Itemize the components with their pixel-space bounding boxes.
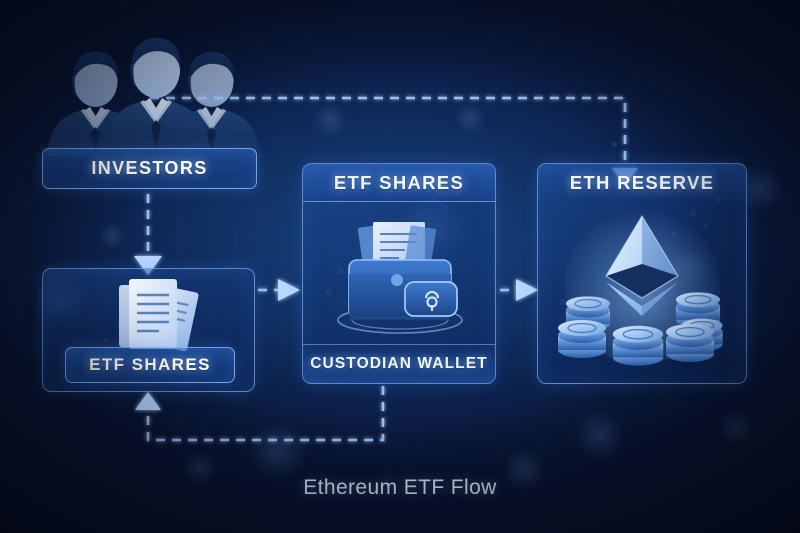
etf-shares-card[interactable]: ETF SHARES xyxy=(42,268,255,392)
arrowhead-right-custodian xyxy=(278,279,300,301)
wallet-lock-icon xyxy=(327,216,473,338)
eth-reserve-panel-header: ETH RESERVE xyxy=(538,164,746,201)
arrowhead-right-eth-reserve xyxy=(516,279,538,301)
diagram-canvas: INVESTORS xyxy=(0,0,800,533)
arrowhead-up-etf-shares xyxy=(135,392,161,410)
custodian-wallet-panel[interactable]: ETF SHARES xyxy=(302,163,496,384)
diagram-caption: Ethereum ETF Flow xyxy=(0,476,800,500)
eth-reserve-header-label: ETH RESERVE xyxy=(570,172,715,194)
custodian-footer-label: CUSTODIAN WALLET xyxy=(310,355,487,373)
investors-label: INVESTORS xyxy=(91,158,207,179)
ethereum-coins-icon xyxy=(552,204,732,374)
etf-shares-label-box: ETF SHARES xyxy=(65,347,235,383)
custodian-header-label: ETF SHARES xyxy=(334,172,464,194)
documents-icon xyxy=(105,275,215,357)
custodian-panel-header: ETF SHARES xyxy=(303,164,495,202)
investors-label-box[interactable]: INVESTORS xyxy=(42,148,257,189)
connector-return-loop xyxy=(148,386,383,440)
eth-reserve-panel[interactable]: ETH RESERVE xyxy=(537,163,747,384)
custodian-panel-footer: CUSTODIAN WALLET xyxy=(303,344,495,383)
etf-shares-label: ETF SHARES xyxy=(89,355,211,375)
investors-icon xyxy=(44,34,260,156)
